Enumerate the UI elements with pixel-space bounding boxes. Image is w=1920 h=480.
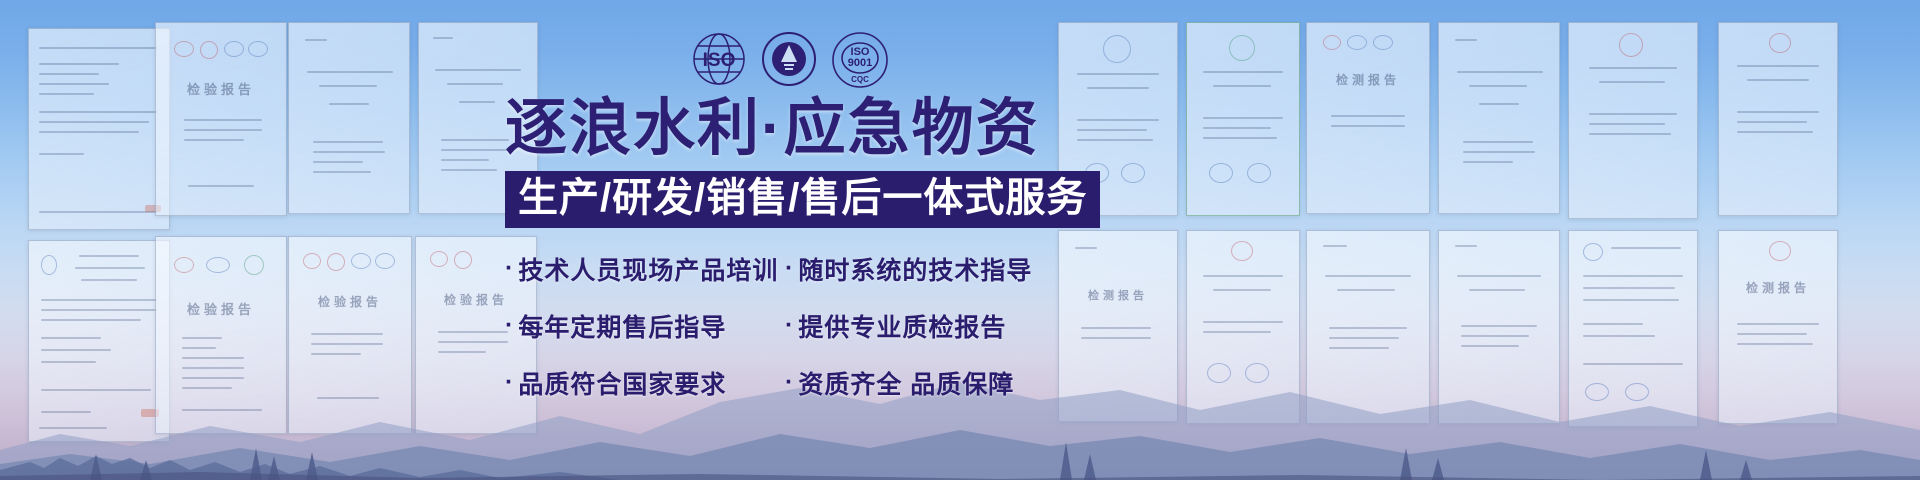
certificate-title: 检测报告 <box>1307 71 1429 88</box>
cqc-label: CQC <box>851 75 869 84</box>
iso-globe-badge: ISO <box>690 30 748 88</box>
certificate-title: 检验报告 <box>156 79 286 98</box>
iso-14000-badge <box>760 30 818 88</box>
service-ribbon-text: 生产/研发/销售/售后一体式服务 <box>518 176 1087 221</box>
certificate-thumbnail: 检验报告 <box>155 22 287 216</box>
feature-bullet: · 提供专业质检报告 <box>785 308 1035 344</box>
certification-badges: ISO ISO 9001 CQC <box>690 30 890 90</box>
iso-9001-bottom-label: 9001 <box>848 57 872 69</box>
bullet-dot-icon: · <box>785 256 794 281</box>
bullet-dot-icon: · <box>505 256 514 281</box>
certificate-thumbnail <box>1568 22 1698 219</box>
bullet-dot-icon: · <box>505 370 514 395</box>
iso-9001-cqc-badge: ISO 9001 CQC <box>830 30 890 90</box>
feature-bullet-list: · 技术人员现场产品培训 · 随时系统的技术指导 · 每年定期售后指导 · 提供… <box>505 251 1065 401</box>
feature-bullet-label: 技术人员现场产品培训 <box>518 251 778 287</box>
feature-bullet-label: 随时系统的技术指导 <box>798 251 1032 287</box>
certificate-title: 检验报告 <box>156 299 286 318</box>
bullet-dot-icon: · <box>785 370 794 395</box>
bullet-dot-icon: · <box>505 313 514 338</box>
certificate-title: 检验报告 <box>289 293 411 310</box>
certificate-title: 检测报告 <box>1719 279 1837 296</box>
feature-bullet-label: 提供专业质检报告 <box>798 308 1006 344</box>
promo-banner: 检验报告 <box>0 0 1920 480</box>
banner-content: 逐浪水利·应急物资 生产/研发/销售/售后一体式服务 · 技术人员现场产品培训 … <box>505 96 1065 401</box>
feature-bullet: · 随时系统的技术指导 <box>785 251 1035 287</box>
certificate-thumbnail <box>288 22 410 214</box>
certificate-thumbnail <box>1438 22 1560 214</box>
service-ribbon: 生产/研发/销售/售后一体式服务 <box>505 171 1100 228</box>
certificate-thumbnail <box>28 28 170 230</box>
certificate-thumbnail <box>1186 22 1300 216</box>
banner-headline: 逐浪水利·应急物资 <box>505 96 1065 162</box>
certificate-thumbnail: 检测报告 <box>1306 22 1430 214</box>
feature-bullet: · 资质齐全 品质保障 <box>785 365 1035 401</box>
feature-bullet-label: 每年定期售后指导 <box>518 308 726 344</box>
certificate-thumbnail <box>1718 22 1838 216</box>
certificate-title: 检测报告 <box>1059 287 1177 303</box>
bullet-dot-icon: · <box>785 313 794 338</box>
feature-bullet-label: 资质齐全 品质保障 <box>798 365 1014 401</box>
feature-bullet: · 每年定期售后指导 <box>505 308 785 344</box>
feature-bullet: · 品质符合国家要求 <box>505 365 785 401</box>
iso-badge-label: ISO <box>703 50 736 71</box>
feature-bullet: · 技术人员现场产品培训 <box>505 251 785 287</box>
feature-bullet-label: 品质符合国家要求 <box>518 365 726 401</box>
